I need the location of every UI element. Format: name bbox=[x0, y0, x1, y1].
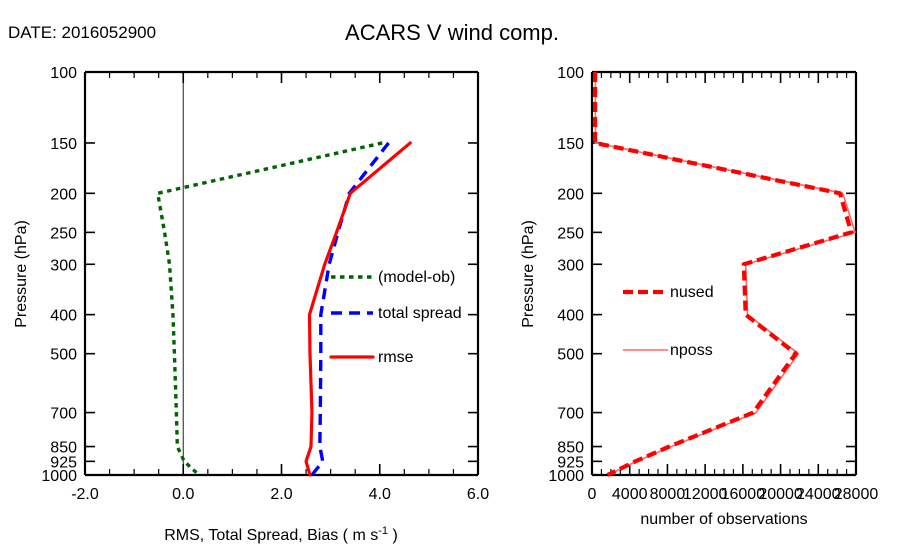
date-label: DATE: 2016052900 bbox=[8, 23, 156, 42]
left-panel: 1001502002503004005007008509251000 -2.00… bbox=[13, 65, 489, 544]
right-y-tick-label: 100 bbox=[557, 65, 584, 82]
left-x-tick-label: 2.0 bbox=[270, 486, 292, 503]
left-x-tick-label: 6.0 bbox=[467, 486, 489, 503]
left-y-tick-label: 250 bbox=[50, 225, 77, 242]
right-y-tick-label: 300 bbox=[557, 257, 584, 274]
right-y-tick-label: 200 bbox=[557, 186, 584, 203]
left-x-axis-title-pre: RMS, Total Spread, Bias ( m s bbox=[164, 527, 378, 544]
left-x-tick-label: 0.0 bbox=[172, 486, 194, 503]
right-x-ticks: 0400080001200016000200002400028000 bbox=[588, 72, 879, 503]
left-y-tick-label: 200 bbox=[50, 186, 77, 203]
legend-label-nposs: nposs bbox=[670, 342, 713, 359]
right-x-tick-label: 8000 bbox=[650, 486, 686, 503]
left-y-tick-label: 100 bbox=[50, 65, 77, 82]
right-x-axis-title: number of observations bbox=[640, 511, 807, 528]
left-x-axis-title-post: ) bbox=[388, 527, 398, 544]
right-y-ticks: 1001502002503004005007008509251000 bbox=[548, 65, 856, 485]
series-line-nposs bbox=[595, 72, 855, 475]
left-y-tick-label: 400 bbox=[50, 308, 77, 325]
left-x-tick-label: 4.0 bbox=[369, 486, 391, 503]
left-y-axis-title: Pressure (hPa) bbox=[13, 220, 30, 328]
left-y-tick-label: 150 bbox=[50, 136, 77, 153]
profile-plot-svg: DATE: 2016052900 ACARS V wind comp. 1001… bbox=[0, 0, 900, 560]
right-y-tick-label: 700 bbox=[557, 406, 584, 423]
left-x-axis-title-sup: -1 bbox=[378, 525, 388, 537]
right-x-tick-label: 28000 bbox=[834, 486, 879, 503]
right-series-group bbox=[595, 72, 855, 475]
left-series-group bbox=[158, 143, 411, 475]
left-legend: (model-ob) total spread rmse bbox=[331, 269, 462, 366]
left-y-tick-label: 1000 bbox=[41, 468, 77, 485]
page-title: ACARS V wind comp. bbox=[345, 20, 559, 45]
right-y-axis-title: Pressure (hPa) bbox=[520, 220, 537, 328]
right-x-tick-label: 0 bbox=[588, 486, 597, 503]
legend-label-nused: nused bbox=[670, 284, 714, 301]
series-line-nused bbox=[595, 72, 851, 475]
legend-label-bias: (model-ob) bbox=[378, 269, 455, 286]
left-y-tick-label: 300 bbox=[50, 257, 77, 274]
right-x-tick-label: 4000 bbox=[612, 486, 648, 503]
left-x-tick-label: -2.0 bbox=[71, 486, 99, 503]
legend-label-rmse: rmse bbox=[378, 349, 414, 366]
right-y-tick-label: 150 bbox=[557, 136, 584, 153]
left-x-ticks: -2.00.02.04.06.0 bbox=[71, 72, 489, 503]
figure-container: DATE: 2016052900 ACARS V wind comp. 1001… bbox=[0, 0, 900, 560]
right-y-tick-label: 1000 bbox=[548, 468, 584, 485]
left-y-tick-label: 500 bbox=[50, 347, 77, 364]
right-y-tick-label: 400 bbox=[557, 308, 584, 325]
right-legend: nused nposs bbox=[623, 284, 714, 359]
right-axis-frame bbox=[592, 72, 856, 475]
left-y-tick-label: 700 bbox=[50, 406, 77, 423]
legend-label-total-spread: total spread bbox=[378, 305, 462, 322]
right-y-tick-label: 500 bbox=[557, 347, 584, 364]
left-x-axis-title: RMS, Total Spread, Bias ( m s-1 ) bbox=[164, 525, 398, 544]
right-y-tick-label: 250 bbox=[557, 225, 584, 242]
right-panel: 1001502002503004005007008509251000 04000… bbox=[520, 65, 878, 528]
